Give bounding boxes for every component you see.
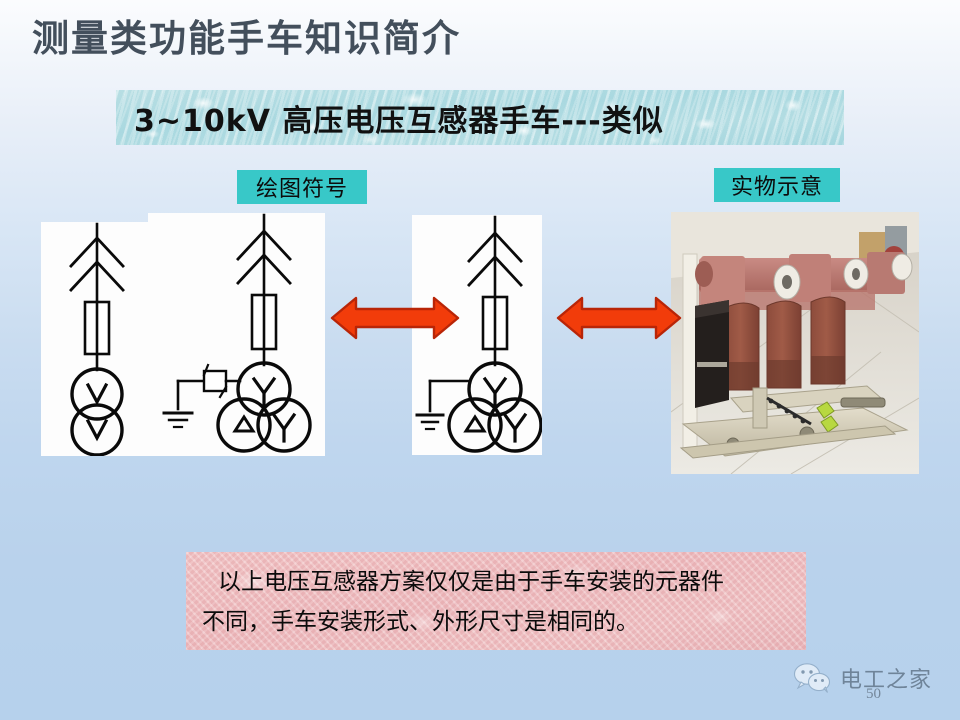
label-drawing-symbol: 绘图符号 — [237, 170, 367, 204]
note-box: 以上电压互感器方案仅仅是由于手车安装的元器件 不同，手车安装形式、外形尺寸是相同… — [186, 552, 806, 650]
wechat-icon — [793, 663, 831, 693]
slide-root: 测量类功能手车知识简介 3~10kV 高压电压互感器手车---类似 绘图符号 实… — [0, 0, 960, 720]
diagram-panel-b — [148, 213, 325, 456]
note-line-1: 以上电压互感器方案仅仅是由于手车安装的元器件 — [202, 562, 790, 602]
double-arrow-right — [556, 292, 682, 344]
watermark-text: 电工之家 — [840, 662, 932, 694]
subtitle-banner: 3~10kV 高压电压互感器手车---类似 — [116, 90, 844, 145]
circuit-diagram-b — [148, 213, 325, 456]
vt-truck-photo — [671, 212, 919, 474]
page-title: 测量类功能手车知识简介 — [32, 8, 461, 62]
subtitle-text: 3~10kV 高压电压互感器手车---类似 — [116, 96, 664, 140]
watermark: 电工之家 — [793, 662, 932, 694]
note-line-2: 不同，手车安装形式、外形尺寸是相同的。 — [202, 602, 790, 642]
photo-content — [671, 212, 919, 474]
double-arrow-left — [330, 292, 460, 344]
label-physical-view: 实物示意 — [714, 168, 840, 202]
